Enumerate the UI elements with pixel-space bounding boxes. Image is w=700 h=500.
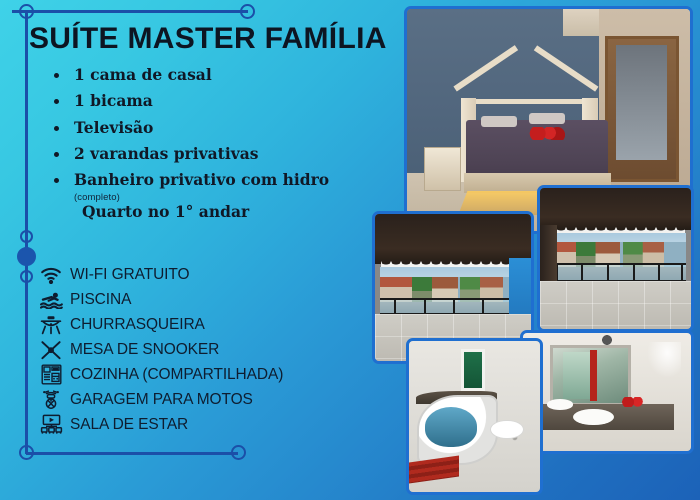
photo-balcony-2 <box>537 185 694 332</box>
amenity-item-motorcycle: GARAGEM PARA MOTOS <box>38 387 358 412</box>
amenity-label: PISCINA <box>70 291 131 309</box>
feature-item: 2 varandas privativas <box>52 145 362 162</box>
amenities-list: WI-FI GRATUITO PISCINA <box>38 262 358 437</box>
frame-dot-bottom-left <box>19 445 34 460</box>
frame-dot-bottom-right <box>231 445 246 460</box>
amenity-item-living-room: SALA DE ESTAR <box>38 412 358 437</box>
amenity-label: SALA DE ESTAR <box>70 416 188 434</box>
amenity-label: CHURRASQUEIRA <box>70 316 205 334</box>
frame-dot-middle-lower <box>20 270 33 283</box>
frame-dot-middle-upper <box>20 230 33 243</box>
frame-dot-middle-filled <box>17 247 36 266</box>
photo-balcony-2-content <box>540 188 691 329</box>
kitchen-icon <box>38 364 64 386</box>
amenity-item-wifi: WI-FI GRATUITO <box>38 262 358 287</box>
feature-note-floor: Quarto no 1° andar <box>82 202 249 221</box>
frame-dot-top-left <box>19 4 34 19</box>
feature-item: 1 cama de casal <box>52 66 362 83</box>
grill-icon <box>38 314 64 336</box>
photo-hydro <box>406 338 543 495</box>
amenity-item-kitchen: COZINHA (COMPARTILHADA) <box>38 362 358 387</box>
feature-item: Televisão <box>52 119 362 136</box>
amenity-label: COZINHA (COMPARTILHADA) <box>70 366 283 384</box>
amenity-item-grill: CHURRASQUEIRA <box>38 312 358 337</box>
amenity-label: GARAGEM PARA MOTOS <box>70 391 253 409</box>
photo-bathroom <box>520 330 694 454</box>
page-title: SUÍTE MASTER FAMÍLIA <box>29 24 387 54</box>
feature-item: Banheiro privativo com hidro <box>52 171 362 188</box>
frame-line-top <box>12 10 248 13</box>
frame-dot-top-right <box>240 4 255 19</box>
amenity-item-snooker: MESA DE SNOOKER <box>38 337 358 362</box>
wifi-icon <box>38 264 64 286</box>
snooker-cues-icon <box>38 339 64 361</box>
frame-line-bottom <box>26 452 238 455</box>
photo-bathroom-content <box>523 333 691 451</box>
photo-hydro-content <box>409 341 540 492</box>
motorcycle-icon <box>38 389 64 411</box>
swimmer-icon <box>38 289 64 311</box>
amenity-label: WI-FI GRATUITO <box>70 266 189 284</box>
amenity-item-pool: PISCINA <box>38 287 358 312</box>
poster-canvas: SUÍTE MASTER FAMÍLIA 1 cama de casal 1 b… <box>0 0 700 500</box>
feature-item: 1 bicama <box>52 92 362 109</box>
living-room-icon <box>38 414 64 436</box>
amenity-label: MESA DE SNOOKER <box>70 341 219 359</box>
room-features-list: 1 cama de casal 1 bicama Televisão 2 var… <box>52 66 362 198</box>
